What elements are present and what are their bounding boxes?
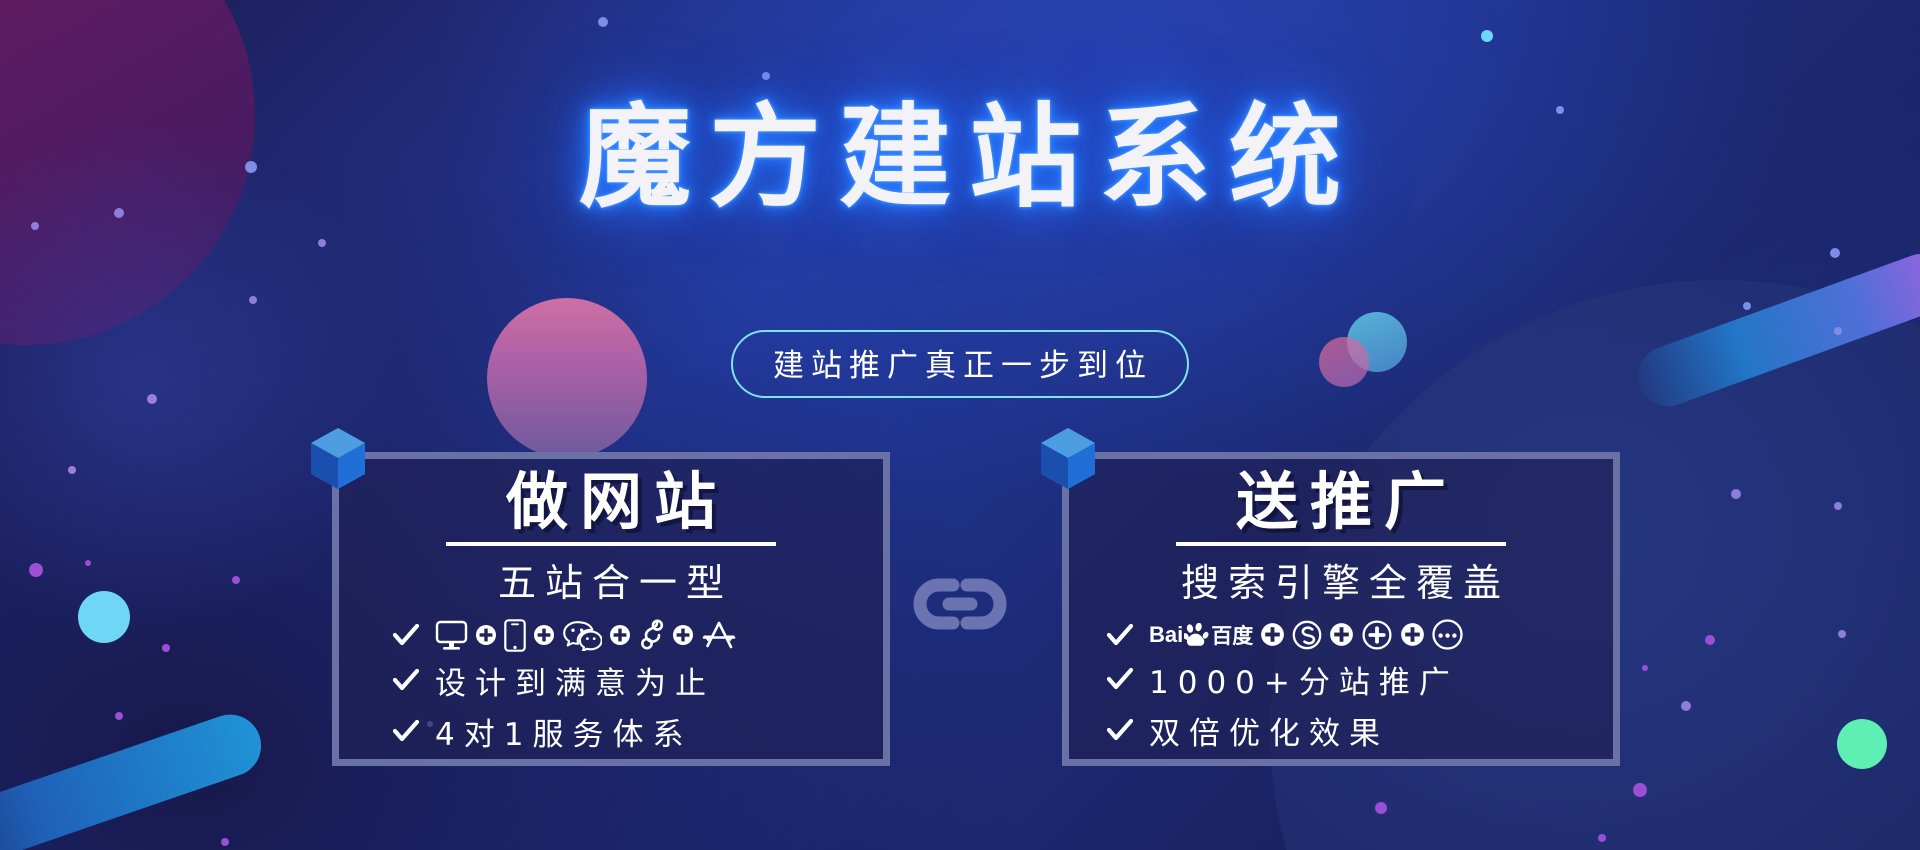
so360-icon [1361, 619, 1393, 651]
star-dot [29, 563, 43, 577]
subtitle-block: 建站推广真正一步到位 [0, 330, 1920, 398]
chain-link-icon [913, 573, 1007, 635]
search-engine-icon-strip: Bai 百度 [1149, 619, 1463, 651]
panel-subheading: 五站合一型 [489, 552, 733, 607]
feature-row-icons: Bai 百度 [1069, 619, 1613, 651]
mobile-phone-icon [504, 619, 526, 652]
star-dot [318, 239, 326, 247]
plus-icon [533, 624, 555, 646]
app-store-icon [701, 620, 737, 650]
star-dot [115, 712, 123, 720]
check-icon [391, 716, 421, 746]
star-dot [1681, 701, 1691, 711]
star-dot [1838, 630, 1846, 638]
star-dot [1830, 248, 1840, 258]
baidu-paw-icon [1184, 623, 1210, 647]
plus-icon [609, 624, 631, 646]
panel-heading: 送推广 [1224, 469, 1458, 536]
star-dot [232, 576, 240, 584]
plus-icon [1329, 622, 1354, 647]
more-ellipsis-icon [1432, 619, 1463, 650]
star-dot [221, 838, 229, 846]
baidu-cn-label: 百度 [1211, 620, 1253, 650]
sogou-icon [1292, 620, 1322, 650]
check-icon [391, 620, 421, 650]
promo-banner: 魔方建站系统 建站推广真正一步到位 做网站 五站合一型 [0, 0, 1920, 850]
plus-icon [1260, 622, 1285, 647]
star-dot [1481, 30, 1493, 42]
plus-icon [1400, 622, 1425, 647]
star-dot [1375, 802, 1387, 814]
star-dot [1731, 489, 1741, 499]
star-dot [85, 560, 91, 566]
feature-row-text: 4对1服务体系 [339, 709, 883, 754]
panel-make-website: 做网站 五站合一型 [332, 452, 890, 766]
monitor-icon [435, 620, 468, 651]
star-dot [249, 296, 257, 304]
panel-subheading: 搜索引擎全覆盖 [1172, 552, 1510, 607]
star-dot [598, 17, 608, 27]
check-icon [391, 665, 421, 695]
feature-label: 设计到满意为止 [435, 658, 715, 703]
feature-label: 1000+分站推广 [1149, 657, 1459, 702]
subtitle-pill: 建站推广真正一步到位 [731, 330, 1189, 398]
panel-divider [446, 542, 776, 546]
star-dot [68, 466, 76, 474]
baidu-logo-icon: Bai 百度 [1149, 620, 1253, 650]
qq-music-icon [638, 619, 665, 651]
title-block: 魔方建站系统 [0, 96, 1920, 221]
baidu-latin-label: Bai [1149, 622, 1183, 648]
plus-icon [672, 624, 694, 646]
panel-divider [1176, 542, 1506, 546]
star-dot [762, 72, 770, 80]
mint-dot-decoration [1837, 719, 1887, 769]
star-dot [1743, 302, 1751, 310]
meteor-streak-left-icon [0, 706, 269, 850]
feature-row-icons [339, 619, 883, 652]
feature-row-text: 1000+分站推广 [1069, 657, 1613, 702]
feature-row-text: 设计到满意为止 [339, 658, 883, 703]
star-dot [162, 644, 170, 652]
check-icon [1105, 715, 1135, 745]
panel-heading: 做网站 [494, 469, 728, 536]
star-dot [1642, 665, 1648, 671]
star-dot [1834, 502, 1842, 510]
feature-label: 双倍优化效果 [1149, 708, 1389, 753]
feature-label: 4对1服务体系 [435, 709, 692, 754]
star-dot [1633, 783, 1647, 797]
platform-icon-strip [435, 619, 737, 652]
main-title: 魔方建站系统 [561, 96, 1359, 221]
plus-icon [475, 624, 497, 646]
panel-free-promotion: 送推广 搜索引擎全覆盖 Bai [1062, 452, 1620, 766]
feature-row-text: 双倍优化效果 [1069, 708, 1613, 753]
wechat-icon [562, 620, 602, 651]
check-icon [1105, 664, 1135, 694]
star-dot [31, 222, 39, 230]
cyan-dot-decoration [78, 591, 130, 643]
star-dot [1598, 834, 1606, 842]
star-dot [1705, 635, 1715, 645]
check-icon [1105, 620, 1135, 650]
